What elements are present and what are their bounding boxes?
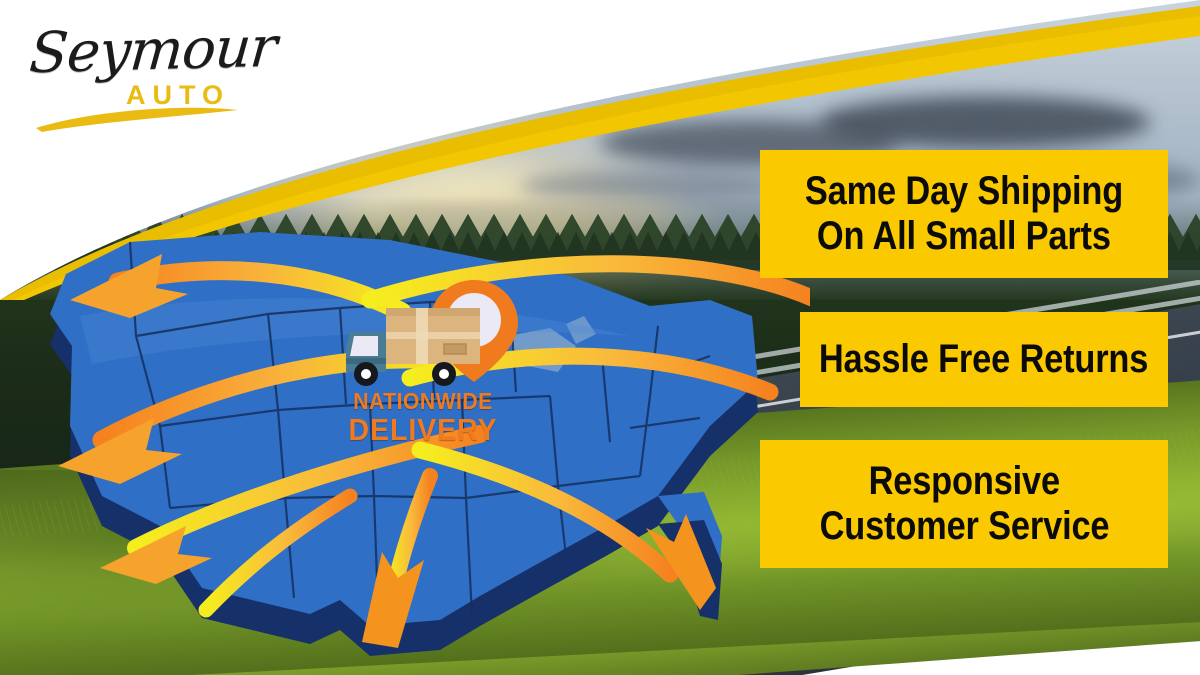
logo-script-text: Seymour <box>27 15 279 86</box>
badge-line-delivery: DELIVERY <box>326 412 519 448</box>
feature-band-responsive-customer-service[interactable]: Responsive Customer Service <box>760 440 1168 568</box>
feature-line: Same Day Shipping <box>805 169 1123 214</box>
brand-logo[interactable]: Seymour AUTO <box>24 16 254 126</box>
feature-band-hassle-free-returns[interactable]: Hassle Free Returns <box>800 312 1168 407</box>
feature-line: On All Small Parts <box>817 214 1111 259</box>
delivery-truck-icon <box>340 302 492 394</box>
logo-swoosh-icon <box>24 94 244 134</box>
promo-banner: Seymour AUTO <box>0 0 1200 675</box>
feature-line: Customer Service <box>819 504 1109 549</box>
badge-line-nationwide: NATIONWIDE <box>326 388 519 415</box>
nationwide-delivery-badge: NATIONWIDE DELIVERY <box>318 276 528 446</box>
feature-band-same-day-shipping[interactable]: Same Day Shipping On All Small Parts <box>760 150 1168 278</box>
feature-line: Hassle Free Returns <box>819 337 1148 382</box>
feature-line: Responsive <box>868 459 1059 504</box>
